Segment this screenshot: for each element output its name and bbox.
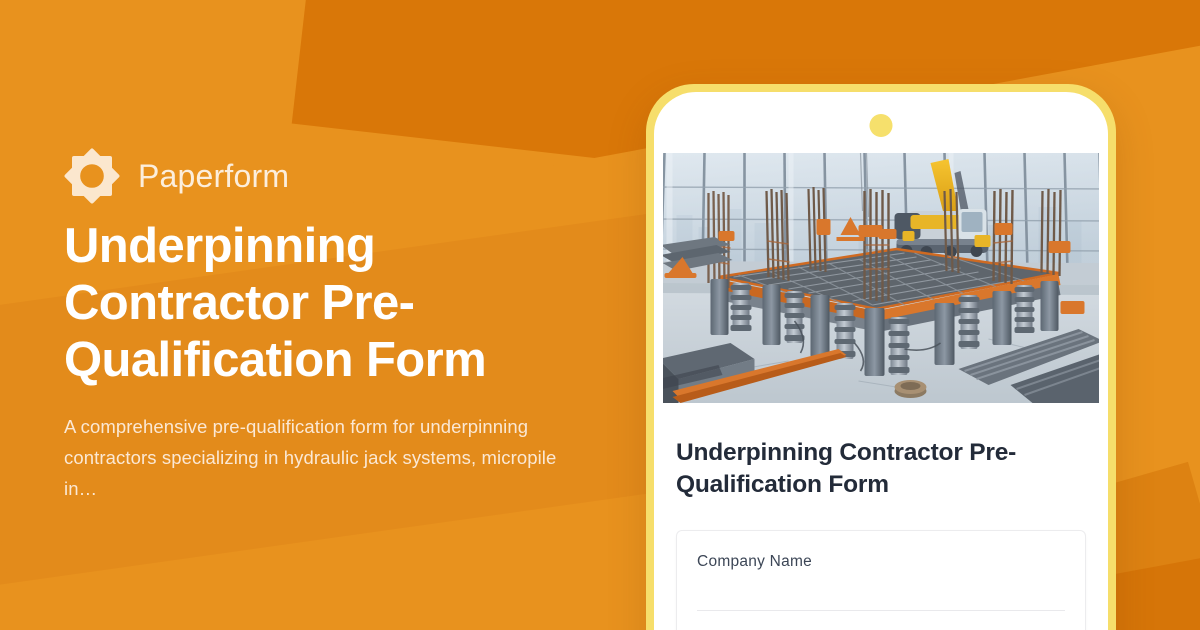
brand-logo[interactable]: Paperform [64, 148, 289, 204]
brand-wordmark: Paperform [138, 160, 289, 192]
form-title: Underpinning Contractor Pre-Qualificatio… [676, 437, 1086, 502]
camera-dot [870, 114, 893, 137]
paperform-star-logo-icon [64, 148, 120, 204]
page-title: Underpinning Contractor Pre-Qualificatio… [64, 218, 564, 388]
company-name-label: Company Name [697, 553, 1065, 571]
page-description: A comprehensive pre-qualification form f… [64, 412, 569, 505]
form-field-card[interactable]: Company Name [676, 530, 1086, 630]
form-preview: Underpinning Contractor Pre-Qualificatio… [654, 403, 1108, 630]
phone-mockup: Underpinning Contractor Pre-Qualificatio… [646, 84, 1116, 630]
left-content-column: Paperform Underpinning Contractor Pre-Qu… [64, 0, 624, 630]
company-name-input[interactable] [697, 610, 1065, 611]
form-cover-image [663, 153, 1099, 403]
phone-screen: Underpinning Contractor Pre-Qualificatio… [654, 92, 1108, 630]
